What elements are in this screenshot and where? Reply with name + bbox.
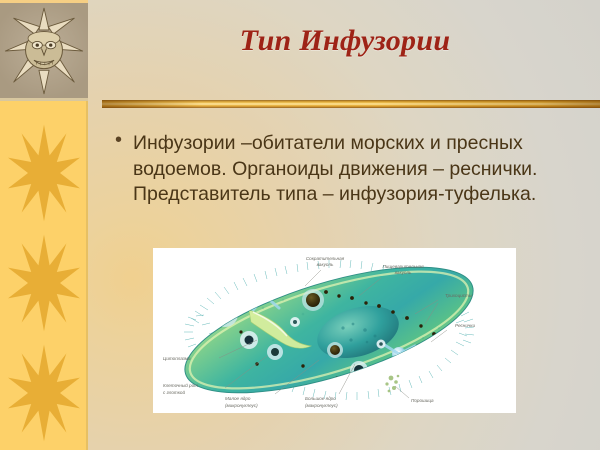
label-cell-mouth: Клеточный рот (163, 382, 198, 388)
gold-divider-bar (102, 100, 600, 108)
body-content: • Инфузории –обитатели морских и пресных… (115, 131, 585, 208)
sun-star-icon (4, 338, 84, 448)
label-contractile-vacuole: Сократительная (306, 256, 345, 261)
label-micronucleus-2: (микронуклеус) (225, 403, 258, 408)
label-cytoplasm: Цитоплазма (163, 356, 191, 361)
label-macronucleus: Большое ядро (305, 396, 336, 401)
paramecium-figure[interactable]: Сократительная вакуоль Пищеварительная в… (153, 248, 516, 413)
label-digestive-vacuole: Пищеварительная (382, 264, 424, 269)
sun-face-emblem-icon (0, 0, 88, 101)
bullet-list-item: • Инфузории –обитатели морских и пресных… (115, 131, 585, 208)
sidebar-decoration (0, 0, 88, 450)
sun-star-icon (4, 118, 84, 228)
slide-title: Тип Инфузории (100, 24, 590, 58)
label-digestive-vacuole-2: вакуоль (395, 270, 412, 275)
label-cell-mouth-2: с глоткой (163, 389, 185, 395)
bullet-text: Инфузории –обитатели морских и пресных в… (133, 131, 585, 208)
label-cilia: Реснички (455, 323, 475, 328)
bullet-dot-icon: • (115, 131, 133, 140)
label-cytoproct: Порошица (411, 398, 434, 403)
label-contractile-vacuole-2: вакуоль (317, 262, 334, 267)
label-micronucleus: Малое ядро (225, 396, 251, 401)
paramecium-illustration: Сократительная вакуоль Пищеварительная в… (153, 248, 516, 413)
slide: Тип Инфузории • Инфузории –обитатели мор… (0, 0, 600, 450)
label-trichocysts: Трихоцисты (445, 293, 473, 298)
sun-star-icon (4, 228, 84, 338)
label-macronucleus-2: (макронуклеус) (305, 403, 338, 408)
